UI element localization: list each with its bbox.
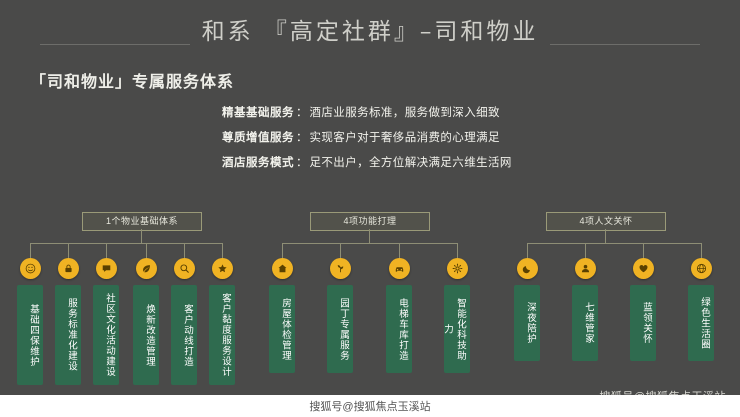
node-card[interactable]: 园丁专属服务 bbox=[327, 285, 353, 373]
bullet-text: 足不出户，全方位解决满足六维生活网 bbox=[310, 154, 512, 170]
bullet-label: 精基基础服务 bbox=[190, 104, 294, 120]
group-header-1: 1个物业基础体系 bbox=[82, 212, 202, 231]
search-icon[interactable] bbox=[174, 258, 195, 279]
node-card[interactable]: 深夜陪护 bbox=[514, 285, 540, 361]
leaf-icon[interactable] bbox=[136, 258, 157, 279]
bullet-row: 尊质增值服务 ： 实现客户对于奢侈品消费的心理满足 bbox=[190, 129, 710, 145]
person-icon[interactable] bbox=[575, 258, 596, 279]
node-card[interactable]: 房屋体检管理 bbox=[269, 285, 295, 373]
bullet-row: 酒店服务模式 ： 足不出户，全方位解决满足六维生活网 bbox=[190, 154, 710, 170]
smiley-icon[interactable] bbox=[20, 258, 41, 279]
node-card[interactable]: 客户动线打造 bbox=[171, 285, 197, 385]
group-header-2: 4项功能打理 bbox=[310, 212, 430, 231]
connector bbox=[106, 243, 107, 259]
group-header-3: 4项人文关怀 bbox=[546, 212, 666, 231]
connector bbox=[184, 243, 185, 259]
node-card[interactable]: 蓝领关怀 bbox=[630, 285, 656, 361]
bullet-colon: ： bbox=[296, 154, 308, 170]
connector bbox=[282, 243, 457, 244]
node-card[interactable]: 焕新改造管理 bbox=[133, 285, 159, 385]
connector bbox=[369, 229, 370, 243]
connector bbox=[399, 243, 400, 259]
connector bbox=[146, 243, 147, 259]
bullet-row: 精基基础服务 ： 酒店业服务标准，服务做到深入细致 bbox=[190, 104, 710, 120]
connector bbox=[701, 243, 702, 259]
connector bbox=[457, 243, 458, 259]
bullet-text: 实现客户对于奢侈品消费的心理满足 bbox=[310, 129, 500, 145]
node-card[interactable]: 绿色生活圈 bbox=[688, 285, 714, 361]
connector bbox=[527, 243, 528, 259]
bullet-colon: ： bbox=[296, 104, 308, 120]
connector bbox=[605, 229, 606, 243]
header-rule-right bbox=[550, 44, 700, 45]
connector bbox=[340, 243, 341, 259]
home-icon[interactable] bbox=[272, 258, 293, 279]
bullet-list: 精基基础服务 ： 酒店业服务标准，服务做到深入细致 尊质增值服务 ： 实现客户对… bbox=[190, 104, 710, 179]
connector bbox=[68, 243, 69, 259]
node-card[interactable]: 智能化科技助力 bbox=[444, 285, 470, 373]
node-card[interactable]: 电梯车库打造 bbox=[386, 285, 412, 373]
connector bbox=[222, 243, 223, 259]
node-card[interactable]: 七维管家 bbox=[572, 285, 598, 361]
node-card[interactable]: 基础四保维护 bbox=[17, 285, 43, 385]
page-title: 和系 『高定社群』–司和物业 bbox=[202, 12, 539, 46]
star-icon[interactable] bbox=[212, 258, 233, 279]
bullet-label: 酒店服务模式 bbox=[190, 154, 294, 170]
gear-icon[interactable] bbox=[447, 258, 468, 279]
node-card[interactable]: 社区文化活动建设 bbox=[93, 285, 119, 385]
watermark-bottom-text: 搜狐号@搜狐焦点玉溪站 bbox=[309, 398, 430, 414]
connector bbox=[527, 243, 702, 244]
moon-icon[interactable] bbox=[517, 258, 538, 279]
chat-icon[interactable] bbox=[96, 258, 117, 279]
header-rule-left bbox=[40, 44, 190, 45]
heart-icon[interactable] bbox=[633, 258, 654, 279]
slide-canvas: 和系 『高定社群』–司和物业 「司和物业」专属服务体系 精基基础服务 ： 酒店业… bbox=[0, 0, 740, 417]
globe-icon[interactable] bbox=[691, 258, 712, 279]
car-icon[interactable] bbox=[389, 258, 410, 279]
bullet-colon: ： bbox=[296, 129, 308, 145]
bullet-label: 尊质增值服务 bbox=[190, 129, 294, 145]
node-card[interactable]: 服务标准化建设 bbox=[55, 285, 81, 385]
connector bbox=[30, 243, 222, 244]
connector bbox=[585, 243, 586, 259]
lock-icon[interactable] bbox=[58, 258, 79, 279]
connector bbox=[282, 243, 283, 259]
connector bbox=[643, 243, 644, 259]
section-subtitle: 「司和物业」专属服务体系 bbox=[30, 68, 234, 92]
watermark-bar: 搜狐号@搜狐焦点玉溪站 bbox=[0, 395, 740, 417]
connector bbox=[30, 243, 31, 259]
node-card[interactable]: 客户黏度服务设计 bbox=[209, 285, 235, 385]
connector bbox=[141, 229, 142, 243]
bullet-text: 酒店业服务标准，服务做到深入细致 bbox=[310, 104, 500, 120]
plant-icon[interactable] bbox=[330, 258, 351, 279]
